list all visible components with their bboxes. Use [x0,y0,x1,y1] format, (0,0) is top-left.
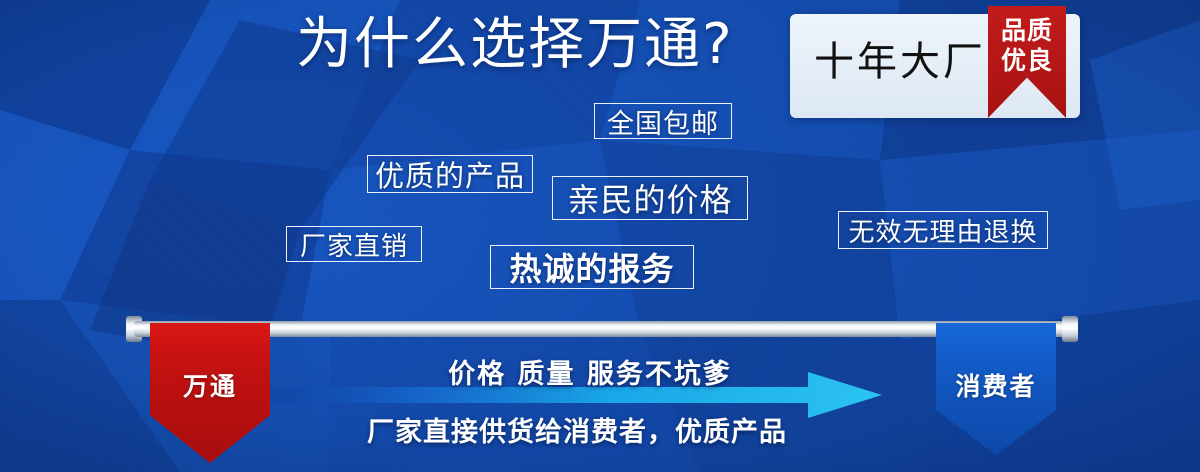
quality-badge: 十年大厂 品质 优良 [790,14,1080,118]
feature-tag: 全国包邮 [594,103,732,139]
ribbon-line-1: 品质 [988,18,1066,43]
feature-tag: 亲民的价格 [552,176,748,220]
flow-headline: 价格 质量 服务不坑爹 [0,352,1200,391]
page-title: 为什么选择万通? [296,14,734,76]
banner-rod [134,321,1074,337]
feature-tag: 热诚的报务 [490,245,694,289]
feature-tag: 厂家直销 [286,226,422,262]
flow-subtext: 厂家直接供货给消费者，优质产品 [0,410,1200,449]
feature-tag: 无效无理由退换 [838,211,1048,249]
promo-banner: 为什么选择万通? 十年大厂 品质 优良 全国包邮优质的产品亲民的价格无效无理由退… [0,0,1200,472]
quality-ribbon: 品质 优良 [988,6,1066,118]
rod-cap-right [1062,316,1078,342]
feature-tag: 优质的产品 [367,155,533,193]
badge-title: 十年大厂 [814,42,986,82]
ribbon-line-2: 优良 [988,48,1066,73]
